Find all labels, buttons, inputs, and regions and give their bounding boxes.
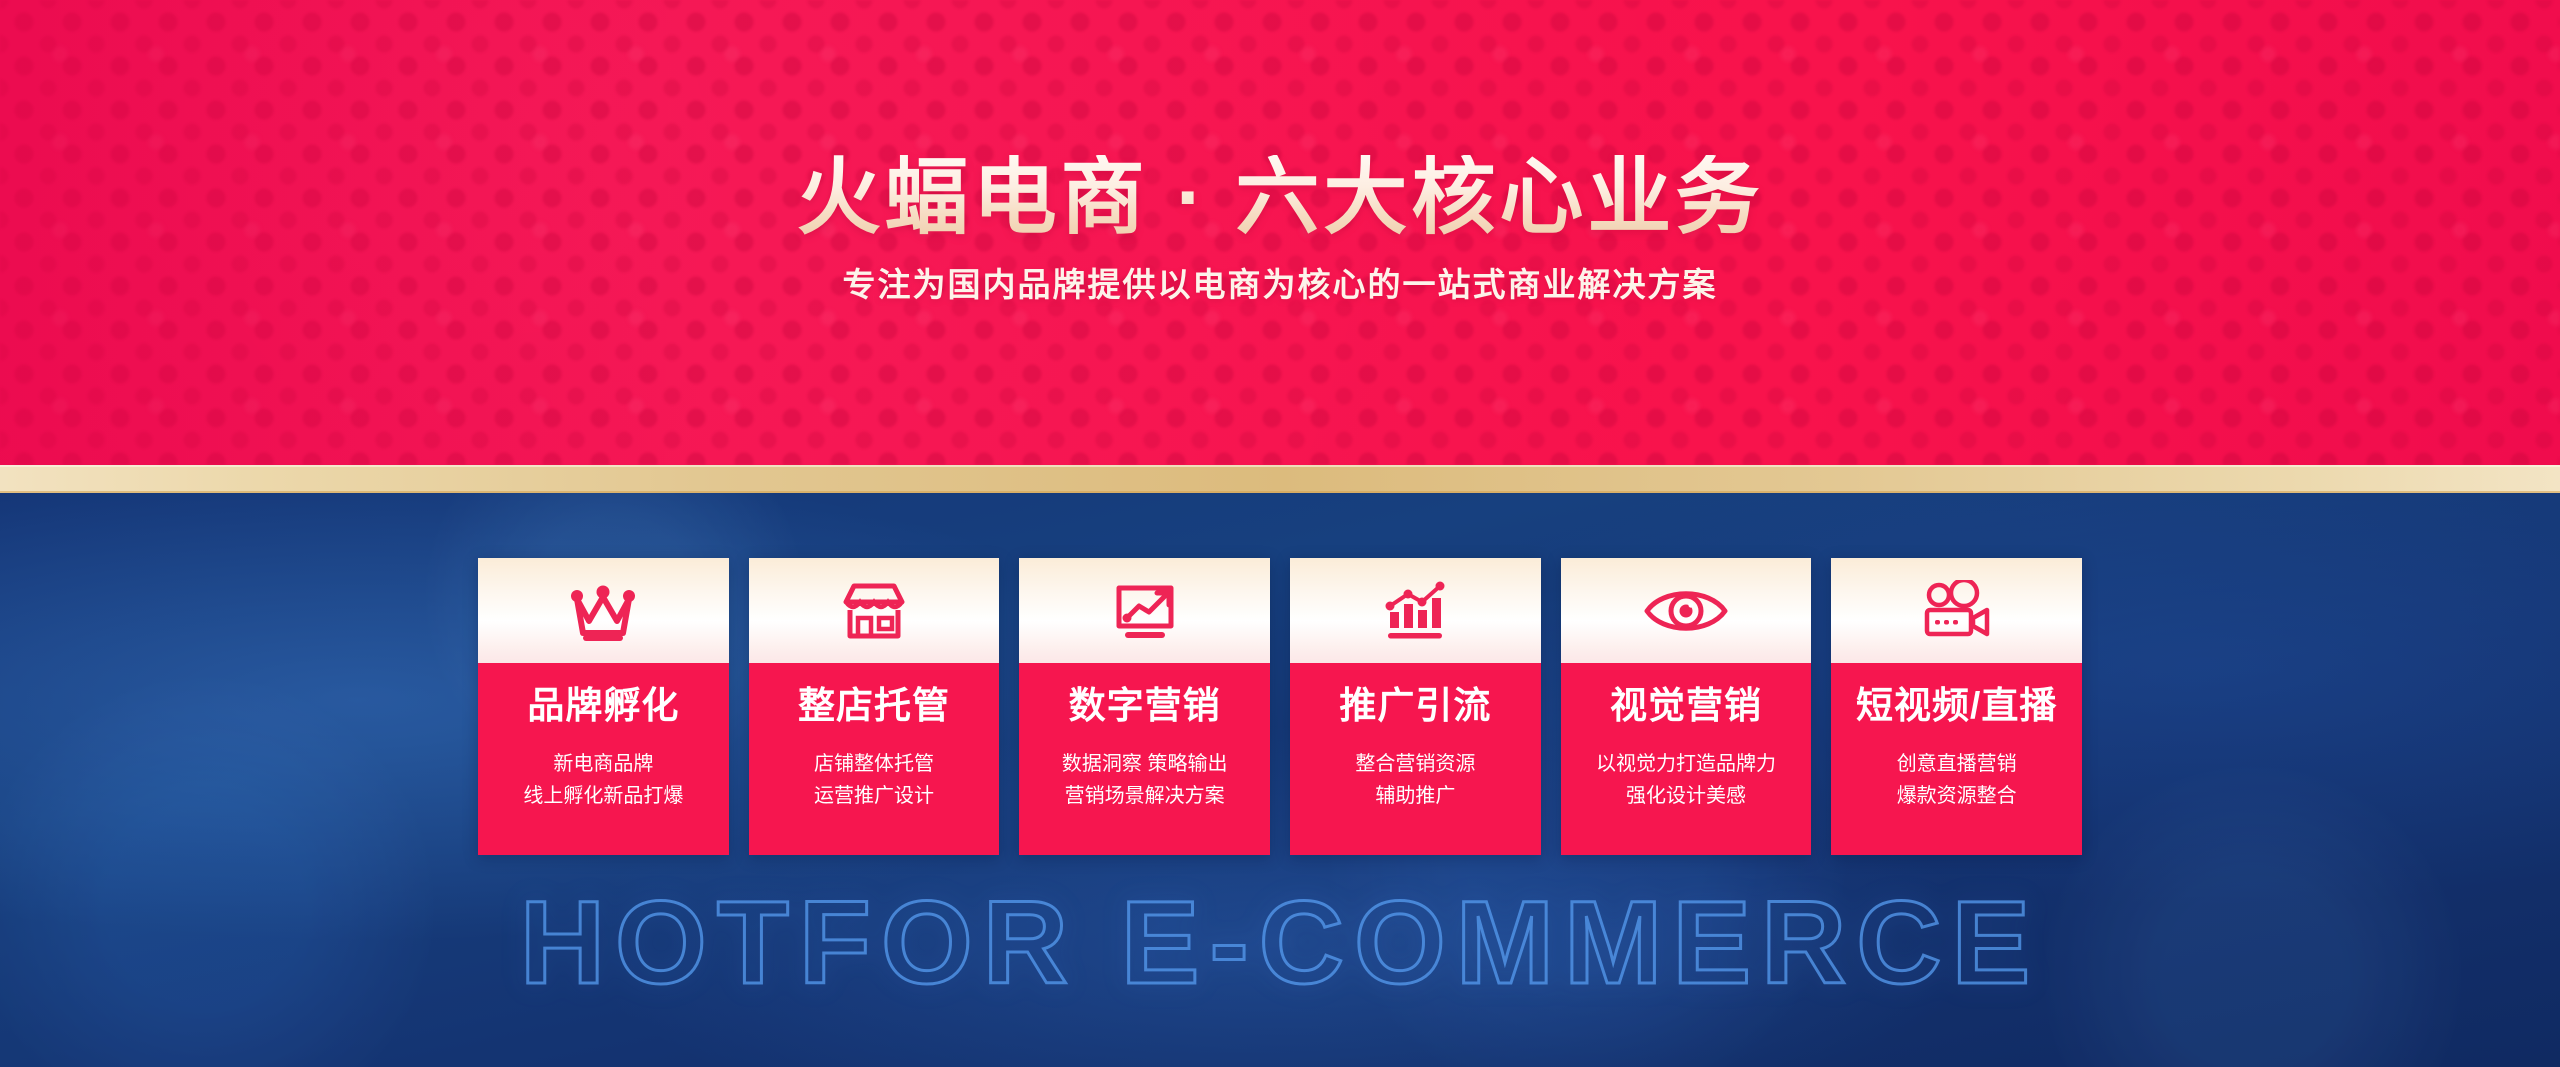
card-description-line: 新电商品牌 (523, 748, 683, 780)
video-camera-icon (1921, 580, 1993, 642)
trend-chart-icon (1111, 580, 1179, 642)
service-card[interactable]: 整店托管 店铺整体托管 运营推广设计 (749, 558, 1000, 855)
card-text-panel: 数字营销 数据洞察 策略输出 营销场景解决方案 (1019, 663, 1270, 855)
card-description-line: 整合营销资源 (1355, 748, 1475, 780)
card-description: 以视觉力打造品牌力 强化设计美感 (1596, 748, 1776, 813)
card-description: 店铺整体托管 运营推广设计 (814, 748, 934, 813)
service-card[interactable]: 推广引流 整合营销资源 辅助推广 (1290, 558, 1541, 855)
card-description: 整合营销资源 辅助推广 (1355, 748, 1475, 813)
card-description: 数据洞察 策略输出 营销场景解决方案 (1062, 748, 1228, 813)
card-description-line: 数据洞察 策略输出 (1062, 748, 1228, 780)
card-description-line: 辅助推广 (1355, 780, 1475, 812)
banner-stage: 火蝠电商 · 六大核心业务 专注为国内品牌提供以电商为核心的一站式商业解决方案 … (0, 0, 2560, 1067)
card-description: 新电商品牌 线上孵化新品打爆 (523, 748, 683, 813)
hero-section: 火蝠电商 · 六大核心业务 专注为国内品牌提供以电商为核心的一站式商业解决方案 (0, 0, 2560, 465)
card-text-panel: 视觉营销 以视觉力打造品牌力 强化设计美感 (1561, 663, 1812, 855)
card-description-line: 运营推广设计 (814, 780, 934, 812)
brand-wordmark: HOTFOR E-COMMERCE (0, 875, 2560, 1011)
hero-content: 火蝠电商 · 六大核心业务 专注为国内品牌提供以电商为核心的一站式商业解决方案 (0, 0, 2560, 465)
page-title: 火蝠电商 · 六大核心业务 (797, 155, 1764, 239)
card-icon-panel (749, 558, 1000, 663)
service-card[interactable]: 短视频/直播 创意直播营销 爆款资源整合 (1831, 558, 2082, 855)
card-description-line: 强化设计美感 (1596, 780, 1776, 812)
card-title: 短视频/直播 (1856, 687, 2057, 726)
card-title: 整店托管 (798, 687, 950, 726)
gold-divider (0, 465, 2560, 493)
card-icon-panel (1831, 558, 2082, 663)
card-description-line: 线上孵化新品打爆 (523, 780, 683, 812)
card-description-line: 爆款资源整合 (1897, 780, 2017, 812)
card-icon-panel (478, 558, 729, 663)
bar-chart-icon (1382, 580, 1448, 642)
card-title: 视觉营销 (1610, 687, 1762, 726)
page-subtitle: 专注为国内品牌提供以电商为核心的一站式商业解决方案 (843, 265, 1718, 305)
card-text-panel: 整店托管 店铺整体托管 运营推广设计 (749, 663, 1000, 855)
card-description-line: 店铺整体托管 (814, 748, 934, 780)
card-description-line: 以视觉力打造品牌力 (1596, 748, 1776, 780)
service-card[interactable]: 视觉营销 以视觉力打造品牌力 强化设计美感 (1561, 558, 1812, 855)
card-description-line: 营销场景解决方案 (1062, 780, 1228, 812)
card-text-panel: 推广引流 整合营销资源 辅助推广 (1290, 663, 1541, 855)
card-text-panel: 短视频/直播 创意直播营销 爆款资源整合 (1831, 663, 2082, 855)
card-text-panel: 品牌孵化 新电商品牌 线上孵化新品打爆 (478, 663, 729, 855)
card-description: 创意直播营销 爆款资源整合 (1897, 748, 2017, 813)
card-icon-panel (1561, 558, 1812, 663)
service-card[interactable]: 品牌孵化 新电商品牌 线上孵化新品打爆 (478, 558, 729, 855)
card-title: 品牌孵化 (527, 687, 679, 726)
storefront-icon (840, 580, 908, 642)
card-description-line: 创意直播营销 (1897, 748, 2017, 780)
service-card[interactable]: 数字营销 数据洞察 策略输出 营销场景解决方案 (1019, 558, 1270, 855)
service-card-list: 品牌孵化 新电商品牌 线上孵化新品打爆 (478, 558, 2082, 855)
crown-icon (567, 581, 639, 641)
card-icon-panel (1290, 558, 1541, 663)
card-title: 数字营销 (1069, 687, 1221, 726)
card-title: 推广引流 (1339, 687, 1491, 726)
card-icon-panel (1019, 558, 1270, 663)
eye-icon (1643, 584, 1729, 638)
